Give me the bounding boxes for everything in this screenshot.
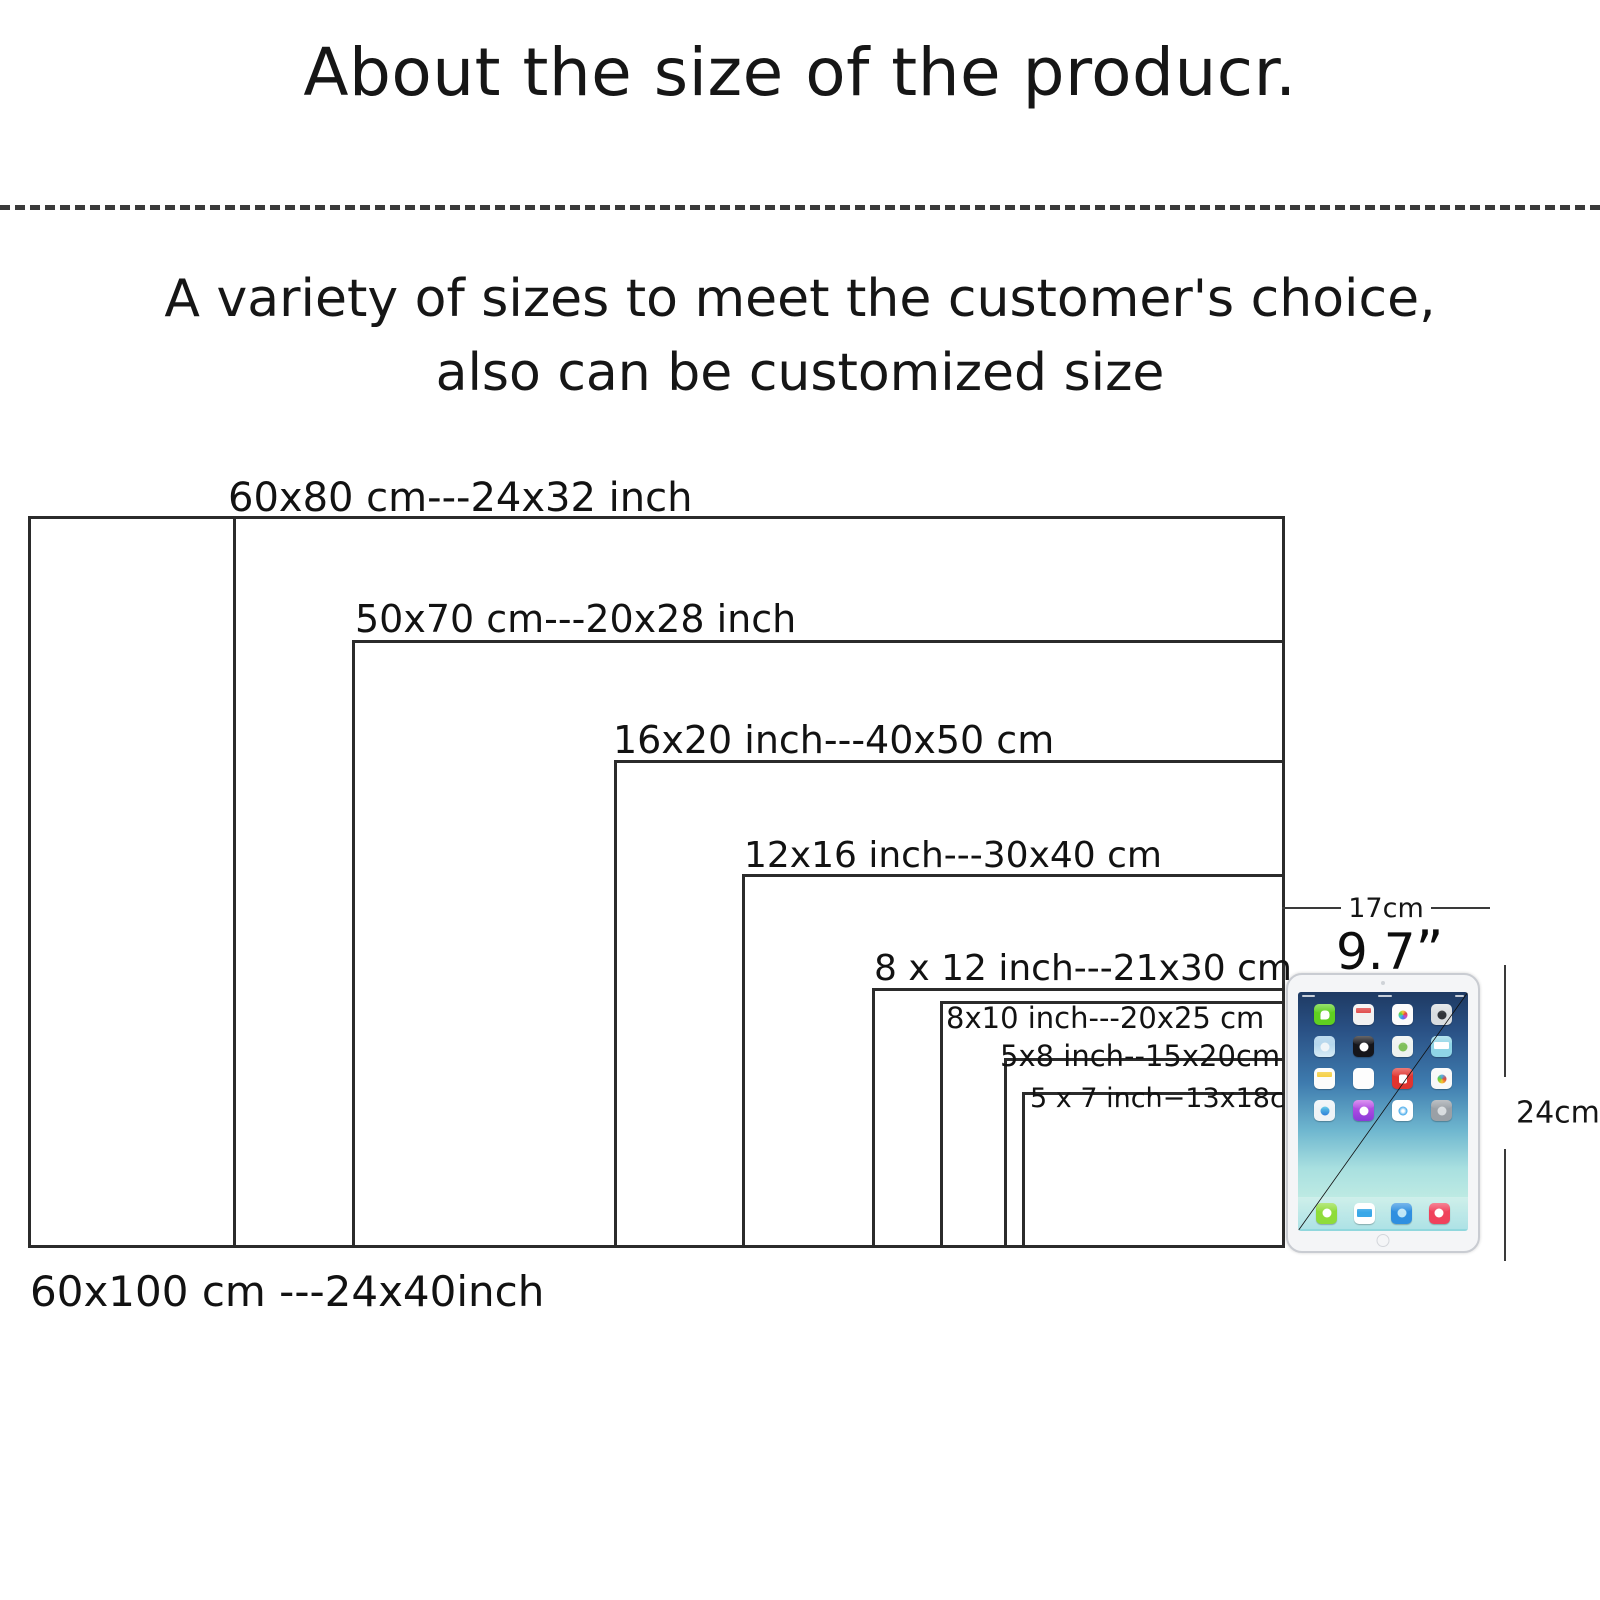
size-comparison-chart: 60x80 cm---24x32 inch 50x70 cm---20x28 i… xyxy=(0,0,1600,1600)
size-label-60x100: 60x100 cm ---24x40inch xyxy=(30,1267,544,1316)
reference-device-block: 17cm 9.7” xyxy=(1278,893,1588,1268)
weather-app-icon[interactable] xyxy=(1314,1036,1335,1057)
dimension-rule-bottom xyxy=(1504,1149,1506,1261)
newsstand-app-icon[interactable] xyxy=(1392,1068,1413,1089)
dimension-rule-right xyxy=(1431,907,1490,909)
size-label-60x80: 60x80 cm---24x32 inch xyxy=(228,478,692,518)
photos-app-icon[interactable] xyxy=(1392,1004,1413,1025)
app-icon-grid xyxy=(1298,1004,1468,1132)
dimension-rule-top xyxy=(1504,965,1506,1077)
height-dimension-label: 24cm xyxy=(1516,1096,1600,1131)
dock xyxy=(1298,1197,1468,1229)
videos-app-icon[interactable] xyxy=(1431,1036,1452,1057)
size-label-5x8: 5x8 inch--15x20cm xyxy=(1000,1042,1280,1071)
size-rect-5x7 xyxy=(1022,1092,1285,1248)
reminders-app-icon[interactable] xyxy=(1353,1068,1374,1089)
size-label-16x20: 16x20 inch---40x50 cm xyxy=(613,721,1054,759)
settings-app-icon[interactable] xyxy=(1431,1100,1452,1121)
dock-safari-icon[interactable] xyxy=(1391,1203,1412,1224)
maps-app-icon[interactable] xyxy=(1392,1036,1413,1057)
camera-icon xyxy=(1381,981,1385,985)
dock-music-icon[interactable] xyxy=(1429,1203,1450,1224)
status-bar xyxy=(1298,992,1468,999)
size-label-8x10: 8x10 inch---20x25 cm xyxy=(946,1004,1264,1033)
carrier-indicator xyxy=(1302,995,1315,997)
dock-mail-icon[interactable] xyxy=(1354,1203,1375,1224)
calendar-app-icon[interactable] xyxy=(1353,1004,1374,1025)
notes-app-icon[interactable] xyxy=(1314,1068,1335,1089)
dock-phone-icon[interactable] xyxy=(1316,1203,1337,1224)
dimension-rule-left xyxy=(1282,907,1341,909)
safari-app-icon[interactable] xyxy=(1392,1100,1413,1121)
size-label-12x16: 12x16 inch---30x40 cm xyxy=(744,838,1162,874)
height-dimension: 24cm xyxy=(1496,965,1588,1261)
clock-indicator xyxy=(1378,995,1392,997)
clock-app-icon[interactable] xyxy=(1353,1036,1374,1057)
home-button[interactable] xyxy=(1377,1234,1390,1247)
tablet-device xyxy=(1286,973,1480,1253)
battery-icon xyxy=(1455,995,1464,997)
itunes-app-icon[interactable] xyxy=(1353,1100,1374,1121)
size-label-50x70: 50x70 cm---20x28 inch xyxy=(355,600,796,638)
size-label-5x7: 5 x 7 inch−13x18cm xyxy=(1030,1085,1311,1112)
gamecenter-app-icon[interactable] xyxy=(1431,1068,1452,1089)
appstore-app-icon[interactable] xyxy=(1314,1100,1335,1121)
camera-app-icon[interactable] xyxy=(1431,1004,1452,1025)
size-label-8x12: 8 x 12 inch---21x30 cm xyxy=(874,951,1292,987)
messages-app-icon[interactable] xyxy=(1314,1004,1335,1025)
tablet-screen xyxy=(1298,992,1468,1231)
